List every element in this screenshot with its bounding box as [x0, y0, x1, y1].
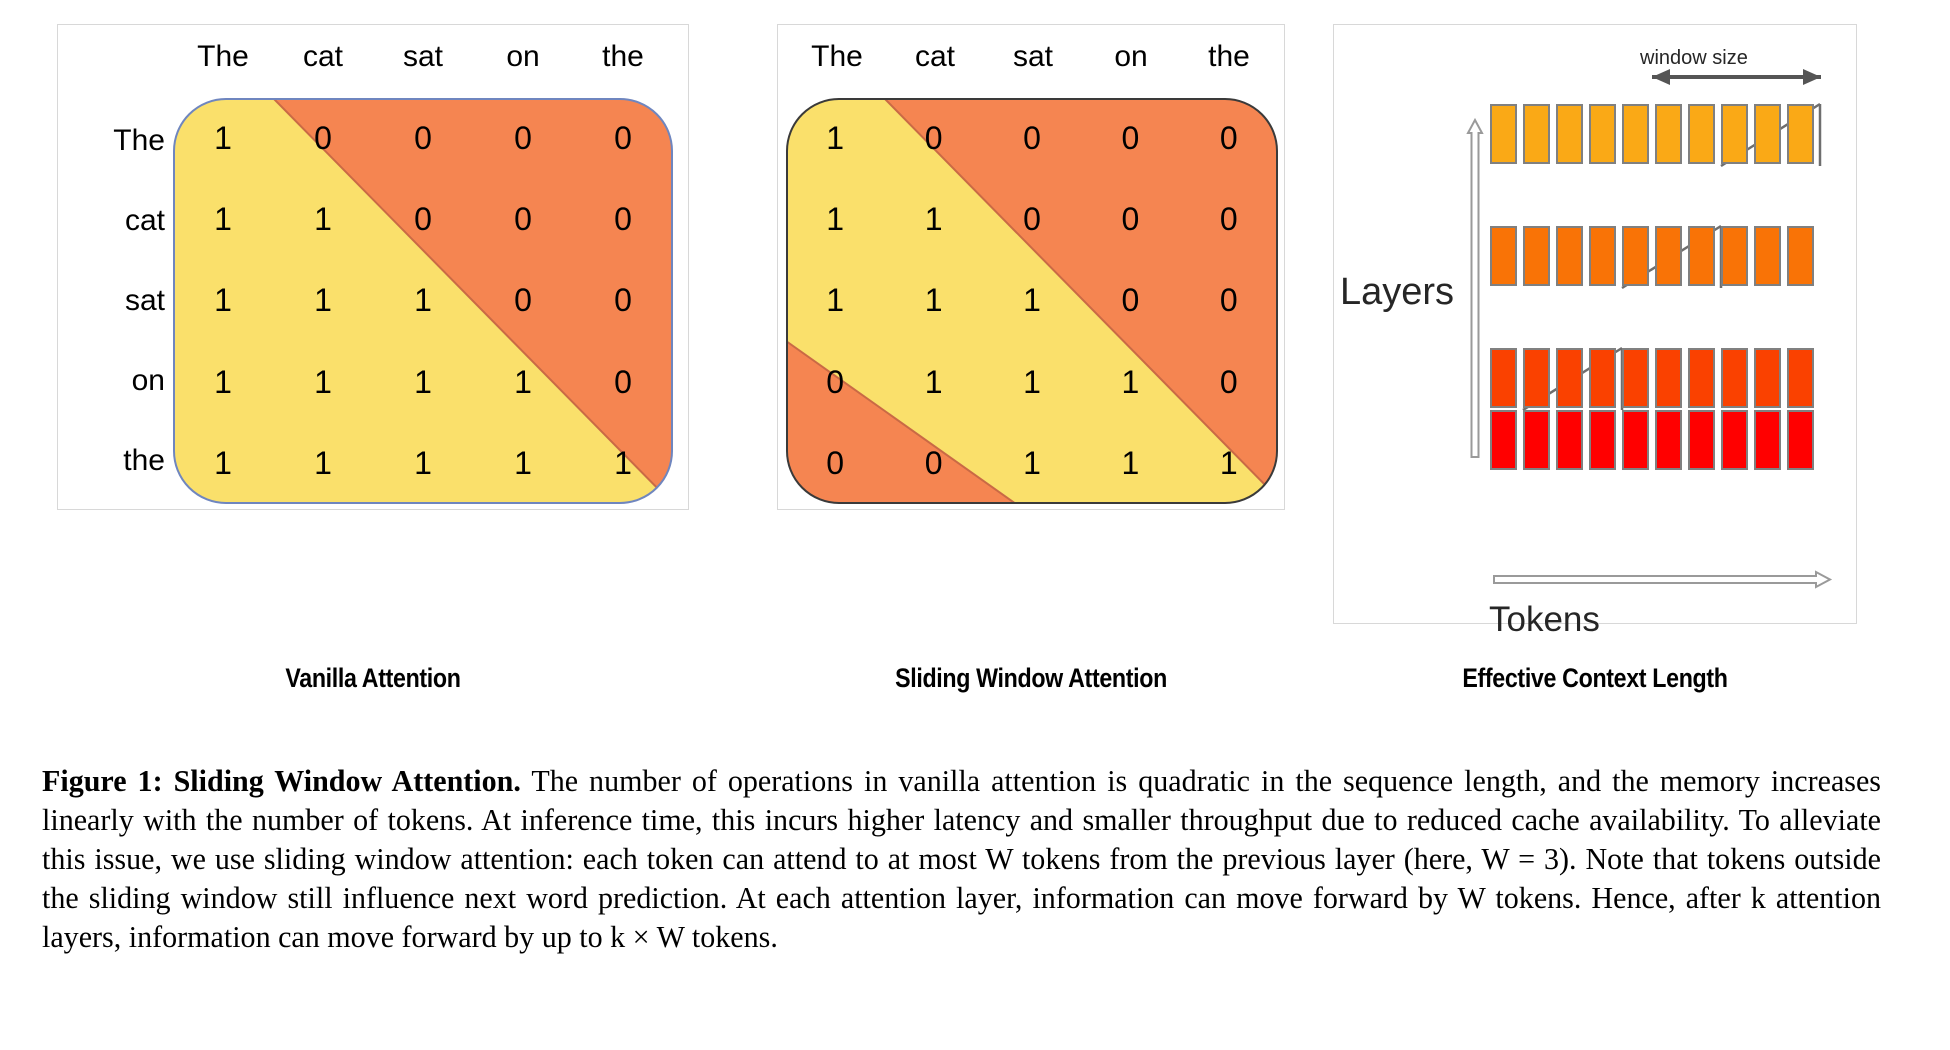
token-bar: [1655, 348, 1682, 408]
token-bar: [1688, 104, 1715, 164]
token-bar: [1655, 226, 1682, 286]
sliding-cell: 1: [1121, 364, 1139, 401]
figure-label: Figure 1:: [42, 764, 163, 798]
vanilla-cell: 0: [514, 201, 532, 238]
token-bar: [1787, 104, 1814, 164]
sliding-cell: 0: [1023, 120, 1041, 157]
token-bar: [1754, 348, 1781, 408]
panel-vanilla-attention: The cat sat on the The cat sat on the: [57, 24, 689, 510]
sliding-cell: 0: [925, 445, 943, 482]
vanilla-cell: 1: [514, 445, 532, 482]
token-bar: [1688, 348, 1715, 408]
token-bar: [1787, 410, 1814, 470]
sliding-col-header: The: [788, 33, 886, 81]
sliding-column-headers: The cat sat on the: [788, 33, 1278, 81]
context-diagram: window size Layers Tokens: [1334, 25, 1856, 623]
token-bar: [1721, 104, 1748, 164]
vanilla-cell: 1: [314, 364, 332, 401]
sliding-cell: 1: [826, 282, 844, 319]
sliding-cell: 0: [826, 445, 844, 482]
vanilla-cell: 1: [414, 445, 432, 482]
layers-axis-arrow-icon: [1468, 120, 1482, 457]
vanilla-row-header: cat: [10, 181, 165, 261]
token-bar: [1523, 226, 1550, 286]
sliding-cell: 0: [1121, 201, 1139, 238]
panel-title-effective-context-length: Effective Context Length: [1370, 663, 1821, 694]
sliding-cell: 0: [1220, 282, 1238, 319]
vanilla-row-header: The: [10, 101, 165, 181]
panels-row: The cat sat on the The cat sat on the: [0, 0, 1950, 650]
sliding-col-header: cat: [886, 33, 984, 81]
token-bar: [1655, 410, 1682, 470]
panel-effective-context-length: window size Layers Tokens: [1333, 24, 1857, 624]
token-bar: [1721, 410, 1748, 470]
token-bar: [1787, 348, 1814, 408]
vanilla-cell: 0: [514, 282, 532, 319]
token-bar: [1688, 226, 1715, 286]
sliding-cell: 0: [1220, 364, 1238, 401]
vanilla-cell: 0: [314, 120, 332, 157]
sliding-cell: 0: [826, 364, 844, 401]
token-bar: [1622, 226, 1649, 286]
vanilla-cell: 0: [414, 120, 432, 157]
token-bar: [1622, 410, 1649, 470]
token-bar: [1622, 348, 1649, 408]
tokens-axis-arrow-icon: [1494, 572, 1830, 587]
sliding-cell: 0: [1121, 282, 1139, 319]
token-bar: [1721, 348, 1748, 408]
vanilla-row-header: on: [10, 341, 165, 421]
sliding-cell: 1: [1023, 282, 1041, 319]
token-bar: [1589, 410, 1616, 470]
vanilla-cell: 1: [214, 445, 232, 482]
vanilla-row-header: the: [10, 421, 165, 501]
token-bar: [1589, 104, 1616, 164]
token-bar: [1787, 226, 1814, 286]
layer-row-2: [1490, 348, 1814, 408]
token-bar: [1589, 348, 1616, 408]
sliding-cell: 1: [925, 282, 943, 319]
vanilla-cell: 0: [614, 201, 632, 238]
panel-sliding-window-attention: The cat sat on the: [777, 24, 1285, 510]
token-bar: [1490, 410, 1517, 470]
vanilla-cell: 0: [614, 282, 632, 319]
sliding-cell: 0: [1121, 120, 1139, 157]
sliding-cell: 1: [826, 201, 844, 238]
sliding-cell: 1: [1023, 445, 1041, 482]
token-bar: [1754, 104, 1781, 164]
figure-caption: Figure 1: Sliding Window Attention. The …: [42, 762, 1881, 957]
vanilla-col-header: on: [473, 33, 573, 81]
vanilla-cell: 1: [314, 282, 332, 319]
token-bar: [1523, 410, 1550, 470]
token-bar: [1589, 226, 1616, 286]
vanilla-col-header: the: [573, 33, 673, 81]
sliding-cell: 1: [1121, 445, 1139, 482]
token-bar: [1655, 104, 1682, 164]
token-bar: [1754, 410, 1781, 470]
vanilla-cell: 1: [614, 445, 632, 482]
layer-row-1: [1490, 410, 1814, 470]
sliding-cell: 1: [826, 120, 844, 157]
layer-row-4: [1490, 104, 1814, 164]
vanilla-col-header: The: [173, 33, 273, 81]
token-bar: [1523, 348, 1550, 408]
sliding-matrix-wrap: The cat sat on the: [778, 25, 1284, 509]
panel-title-sliding-window-attention: Sliding Window Attention: [813, 663, 1250, 694]
vanilla-cell: 0: [514, 120, 532, 157]
sliding-cell: 1: [1023, 364, 1041, 401]
vanilla-cell: 0: [614, 364, 632, 401]
vanilla-matrix-wrap: The cat sat on the The cat sat on the: [58, 25, 688, 509]
window-size-arrow-icon: [1652, 69, 1821, 85]
sliding-cell: 1: [925, 201, 943, 238]
token-bar: [1490, 226, 1517, 286]
vanilla-column-headers: The cat sat on the: [173, 33, 673, 81]
layer-row-3: [1490, 226, 1814, 286]
token-bar: [1556, 226, 1583, 286]
token-bar: [1556, 104, 1583, 164]
vanilla-cell: 1: [514, 364, 532, 401]
token-bar: [1556, 410, 1583, 470]
sliding-cell-values: 1 0 0 0 0 1 1 0 0 0 1 1 1 0 0 0 1: [786, 98, 1278, 504]
token-bar: [1556, 348, 1583, 408]
vanilla-col-header: sat: [373, 33, 473, 81]
vanilla-cell: 1: [314, 201, 332, 238]
sliding-cell: 1: [925, 364, 943, 401]
vanilla-cell: 1: [214, 201, 232, 238]
vanilla-cell: 1: [214, 364, 232, 401]
sliding-col-header: sat: [984, 33, 1082, 81]
vanilla-cell-values: 1 0 0 0 0 1 1 0 0 0 1 1 1 0 0 1 1: [173, 98, 673, 504]
figure-root: The cat sat on the The cat sat on the: [0, 0, 1950, 1050]
vanilla-cell: 0: [414, 201, 432, 238]
panel-title-vanilla-attention: Vanilla Attention: [101, 663, 645, 694]
token-bar: [1721, 226, 1748, 286]
token-bar: [1688, 410, 1715, 470]
vanilla-cell: 0: [614, 120, 632, 157]
vanilla-row-header: sat: [10, 261, 165, 341]
sliding-cell: 1: [1220, 445, 1238, 482]
vanilla-cell: 1: [214, 120, 232, 157]
vanilla-row-headers: The cat sat on the: [10, 101, 165, 501]
token-bar: [1523, 104, 1550, 164]
sliding-col-header: the: [1180, 33, 1278, 81]
sliding-cell: 0: [1220, 120, 1238, 157]
sliding-cell: 0: [925, 120, 943, 157]
token-bar: [1622, 104, 1649, 164]
sliding-col-header: on: [1082, 33, 1180, 81]
vanilla-col-header: cat: [273, 33, 373, 81]
vanilla-cell: 1: [414, 282, 432, 319]
sliding-cell: 0: [1220, 201, 1238, 238]
figure-bold-title: Sliding Window Attention.: [174, 764, 521, 798]
token-bar: [1490, 348, 1517, 408]
token-bar: [1754, 226, 1781, 286]
vanilla-cell: 1: [314, 445, 332, 482]
token-bar: [1490, 104, 1517, 164]
vanilla-cell: 1: [214, 282, 232, 319]
vanilla-cell: 1: [414, 364, 432, 401]
sliding-cell: 0: [1023, 201, 1041, 238]
